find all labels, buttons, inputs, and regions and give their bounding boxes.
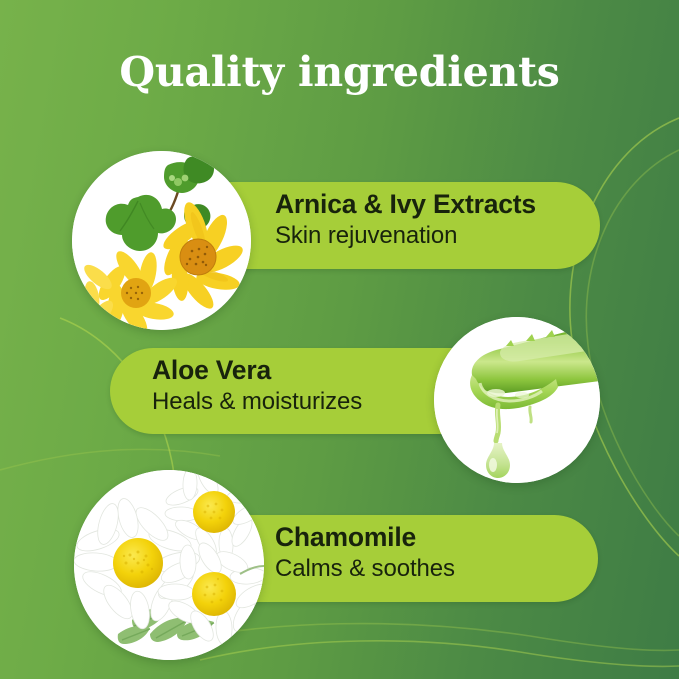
ingredient-benefit-arnica: Skin rejuvenation bbox=[275, 222, 536, 251]
ingredients-poster: Quality ingredients Arnica & Ivy Extract… bbox=[0, 0, 679, 679]
ingredient-benefit-chamomile: Calms & soothes bbox=[275, 555, 455, 584]
ingredient-name-arnica: Arnica & Ivy Extracts bbox=[275, 190, 536, 220]
page-title: Quality ingredients bbox=[0, 48, 679, 96]
ingredient-image-aloe-vera bbox=[434, 317, 600, 483]
ingredient-benefit-aloe: Heals & moisturizes bbox=[152, 388, 362, 417]
ingredient-text-chamomile: Chamomile Calms & soothes bbox=[275, 523, 455, 583]
ingredient-text-arnica: Arnica & Ivy Extracts Skin rejuvenation bbox=[275, 190, 536, 250]
ingredient-image-arnica-ivy bbox=[72, 151, 251, 330]
ingredient-text-aloe: Aloe Vera Heals & moisturizes bbox=[152, 356, 362, 416]
ingredient-name-chamomile: Chamomile bbox=[275, 523, 455, 553]
ingredient-name-aloe: Aloe Vera bbox=[152, 356, 362, 386]
ingredient-image-chamomile bbox=[74, 470, 264, 660]
